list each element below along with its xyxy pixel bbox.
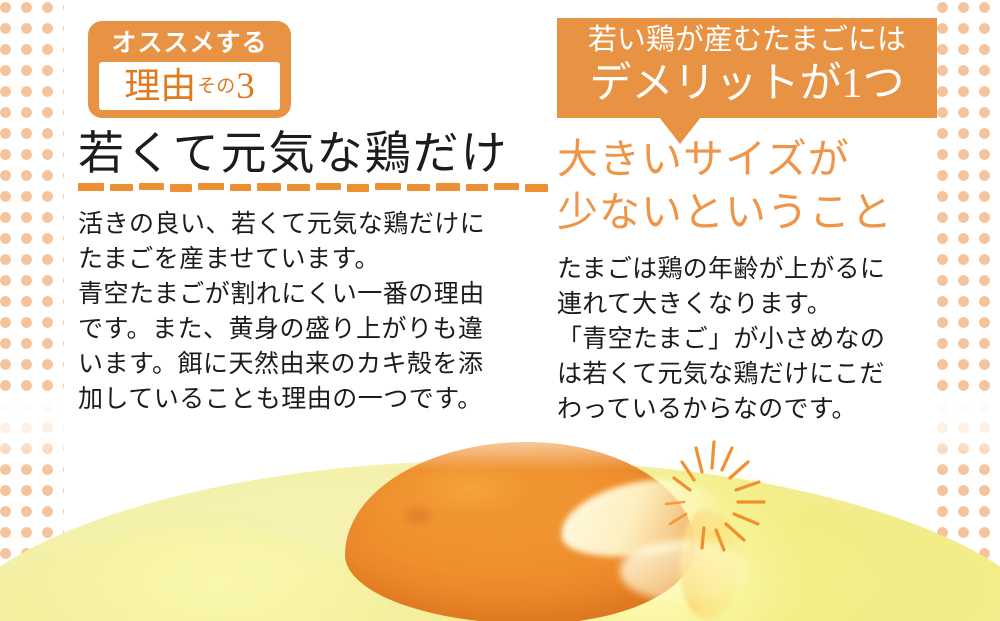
underline-dash [316, 183, 341, 190]
right-body-text: たまごは鶏の年齢が上がるに 連れて大きくなります。 「青空たまご」が小さめなの … [557, 251, 952, 426]
badge-reason-number: 3 [236, 68, 255, 105]
underline-dash [436, 183, 460, 191]
underline-dash [375, 183, 401, 190]
yolk-highlight-secondary [620, 540, 750, 602]
badge-demerit: 若い鶏が産むたまごには デメリットが1つ [557, 18, 937, 118]
underline-dash [139, 183, 164, 190]
underline-dash [466, 184, 488, 191]
underline-dash [347, 184, 369, 192]
underline-dash [198, 183, 224, 190]
badge-reason-main-label: 理由 [124, 68, 196, 104]
left-column: 若くて元気な鶏だけ 活きの良い、若くて元気な鶏だけに たまごを産ませています。 … [78, 128, 548, 416]
underline-dash [257, 183, 281, 191]
yolk-speck [405, 508, 431, 524]
left-heading: 若くて元気な鶏だけ [78, 128, 548, 180]
underline-dash [494, 183, 519, 190]
badge-demerit-line2: デメリットが1つ [557, 58, 937, 110]
underline-dash [525, 184, 548, 192]
underline-dash [230, 184, 251, 191]
egg-photo [0, 400, 1000, 621]
underline-dash [78, 183, 104, 191]
right-column: 大きいサイズが 少ないということ たまごは鶏の年齢が上がるに 連れて大きくなりま… [557, 133, 952, 426]
badge-reason-top-label: オススメする [88, 24, 291, 62]
right-heading: 大きいサイズが 少ないということ [557, 133, 952, 239]
underline-dash [110, 184, 133, 191]
underline-dash [287, 184, 310, 191]
badge-demerit-tail [659, 117, 701, 144]
badge-reason-sub-label: その [196, 77, 236, 96]
underline-dash [170, 184, 192, 192]
badge-reason-panel: 理由 その 3 [99, 62, 280, 110]
badge-reason-3: オススメする 理由 その 3 [88, 21, 291, 118]
promo-page: オススメする 理由 その 3 若い鶏が産むたまごには デメリットが1つ 若くて元… [0, 0, 1000, 621]
left-body-text: 活きの良い、若くて元気な鶏だけに たまごを産ませています。 青空たまごが割れにく… [78, 206, 548, 416]
underline-dash [407, 184, 430, 191]
left-heading-underline [78, 183, 538, 192]
badge-demerit-line1: 若い鶏が産むたまごには [557, 22, 937, 58]
